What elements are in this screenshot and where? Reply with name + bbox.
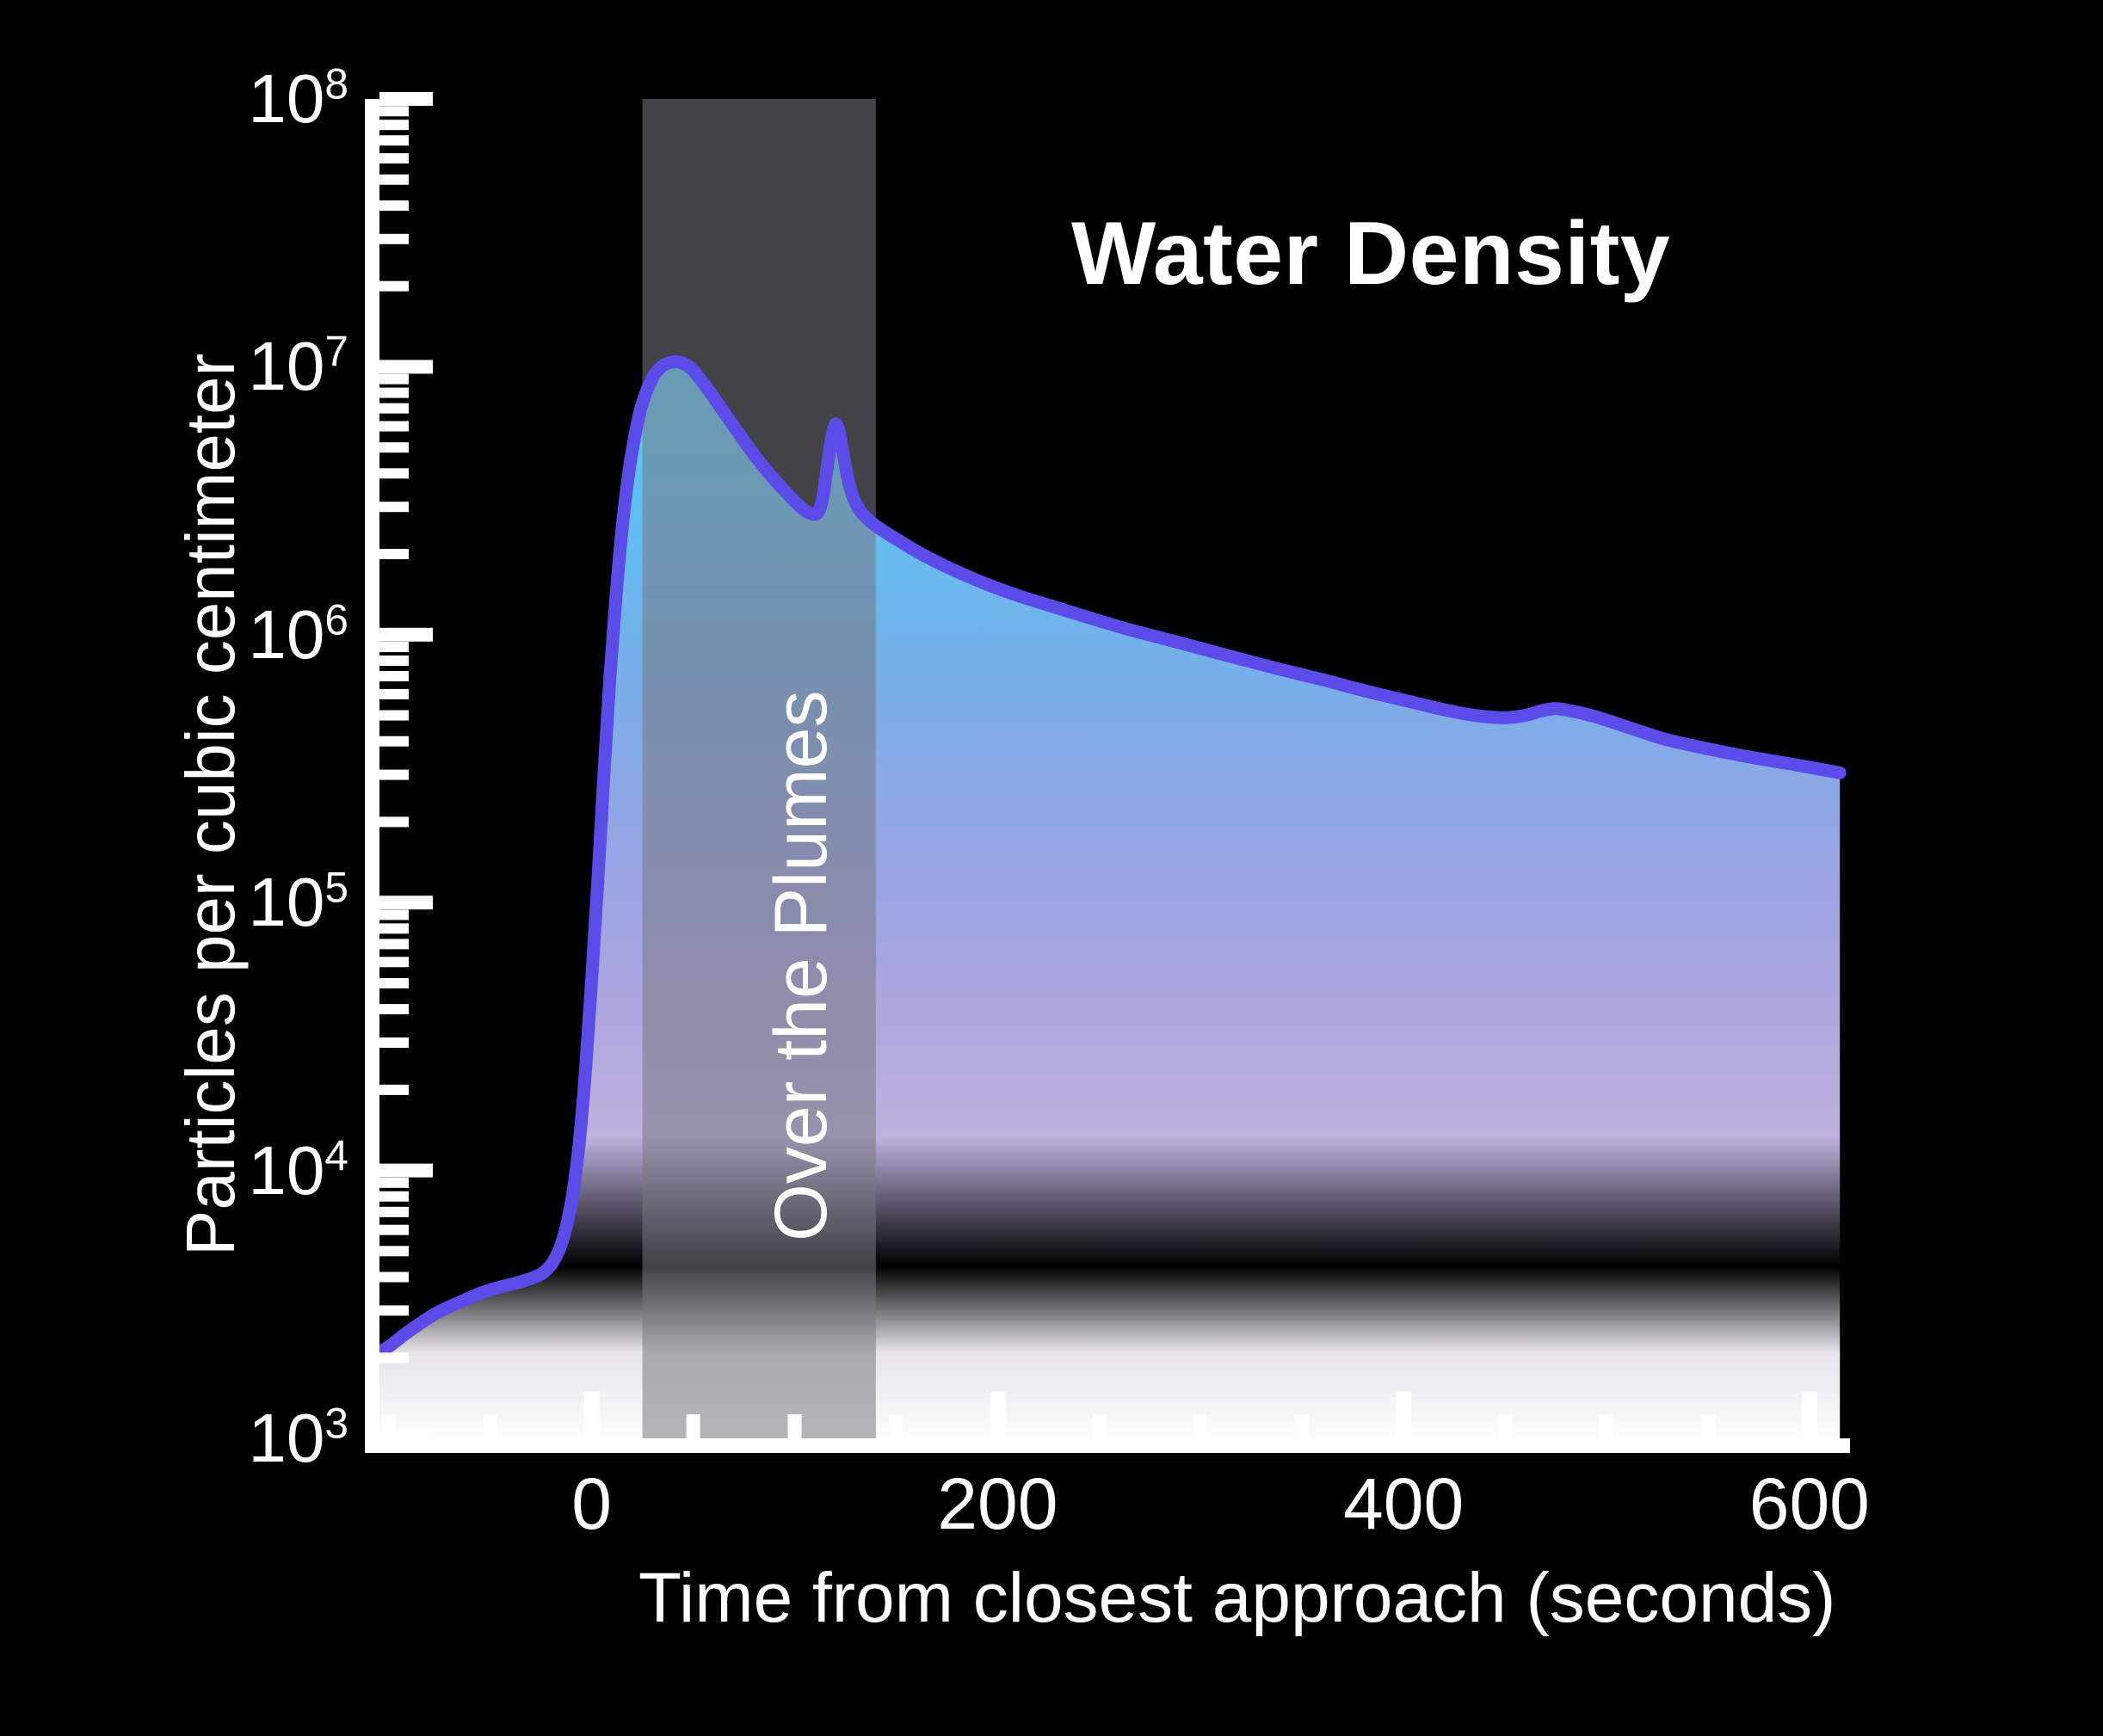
y-minor-tick [379,1272,409,1283]
y-minor-tick [379,939,409,949]
y-minor-tick [379,153,409,163]
x-minor-tick [1193,1414,1207,1439]
y-minor-tick [379,281,409,292]
x-major-tick [990,1392,1005,1439]
y-minor-tick [379,1191,409,1202]
y-minor-tick [379,1207,409,1217]
y-minor-tick [379,816,409,827]
y-minor-tick [379,388,409,398]
y-minor-tick [379,135,409,145]
y-tick-label: 107 [129,327,348,406]
x-axis-label: Time from closest approach (seconds) [638,1563,1835,1634]
x-minor-tick [1498,1414,1512,1439]
y-minor-tick [379,923,409,933]
y-minor-tick [379,957,409,967]
y-tick-label: 106 [129,595,348,674]
y-minor-tick [379,711,409,721]
x-minor-tick [889,1414,903,1439]
y-major-tick [379,92,433,106]
y-axis-ticks [379,92,433,1445]
y-minor-tick [379,175,409,185]
y-minor-tick [379,106,409,116]
y-minor-tick [379,1178,409,1188]
y-minor-tick [379,234,409,244]
y-minor-tick [379,1037,409,1048]
x-major-tick [584,1392,600,1439]
y-minor-tick [379,200,409,211]
x-minor-tick [382,1414,396,1439]
x-minor-tick [687,1414,700,1439]
y-tick-label: 103 [129,1399,348,1478]
y-minor-tick [379,374,409,385]
x-tick-label: 0 [571,1462,612,1546]
x-tick-label: 400 [1343,1462,1464,1546]
y-minor-tick [379,671,409,681]
over-the-plumes-annotation: Over the Plumes [764,708,838,1241]
y-minor-tick [379,120,409,130]
page-title: Water Density [1071,209,1670,299]
y-minor-tick [379,1305,409,1315]
x-minor-tick [484,1414,497,1439]
y-minor-tick [379,421,409,431]
y-minor-tick [379,1225,409,1235]
y-tick-label: 104 [129,1131,348,1210]
water-density-chart-figure: Water Density Time from closest approach… [0,0,2103,1736]
x-minor-tick [788,1414,802,1439]
y-major-tick [379,1164,433,1178]
x-tick-label: 200 [937,1462,1058,1546]
y-minor-tick [379,909,409,920]
y-minor-tick [379,736,409,747]
y-minor-tick [379,468,409,478]
y-minor-tick [379,403,409,414]
x-major-tick [1396,1392,1411,1439]
y-tick-label: 108 [129,59,348,139]
y-minor-tick [379,1004,409,1014]
x-minor-tick [1295,1414,1309,1439]
x-minor-tick [1600,1414,1613,1439]
x-minor-tick [1092,1414,1106,1439]
y-minor-tick [379,978,409,988]
y-major-tick [379,628,433,642]
y-minor-tick [379,656,409,666]
y-minor-tick [379,502,409,512]
y-tick-label: 105 [129,863,348,942]
x-minor-tick [1701,1414,1715,1439]
y-minor-tick [379,642,409,652]
y-minor-tick [379,549,409,559]
y-major-tick [379,896,433,909]
y-minor-tick [379,1085,409,1095]
y-minor-tick [379,1352,409,1363]
y-minor-tick [379,442,409,452]
x-major-tick [1802,1392,1817,1439]
y-minor-tick [379,1246,409,1256]
y-minor-tick [379,770,409,780]
x-tick-label: 600 [1749,1462,1870,1546]
y-axis-label: Particles per cubic centimeter [176,396,245,1256]
y-major-tick [379,360,433,373]
y-minor-tick [379,689,409,699]
